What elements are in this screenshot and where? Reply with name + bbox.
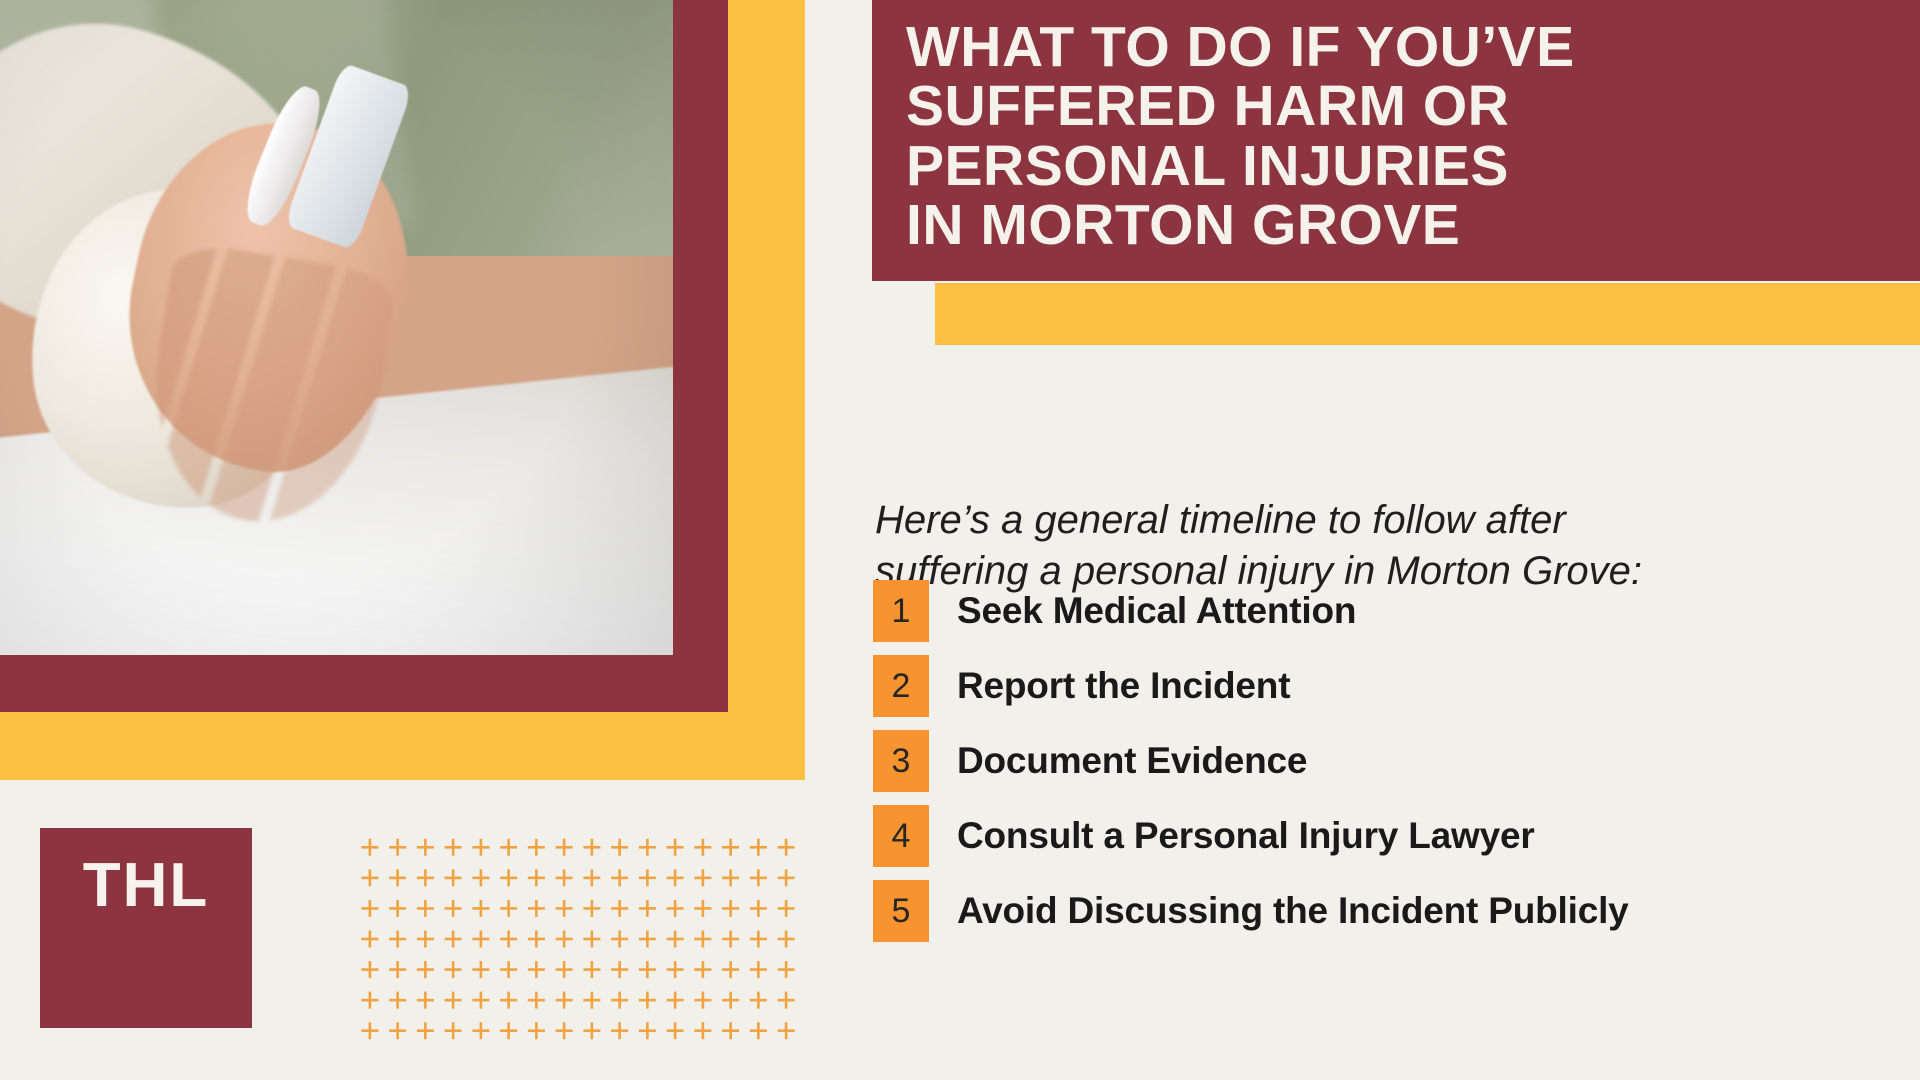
step-label: Avoid Discussing the Incident Publicly — [957, 880, 1629, 942]
infographic-canvas: WHAT TO DO IF YOU’VE SUFFERED HARM OR PE… — [0, 0, 1920, 1080]
photo-vignette — [0, 0, 673, 655]
logo-text: THL — [40, 850, 252, 921]
step-number-badge: 2 — [873, 655, 929, 717]
logo-box: THL — [40, 828, 252, 1028]
title-accent-bar — [935, 283, 1920, 345]
list-item: 1 Seek Medical Attention — [873, 580, 1903, 642]
step-label: Consult a Personal Injury Lawyer — [957, 805, 1535, 867]
list-item: 5 Avoid Discussing the Incident Publicly — [873, 880, 1903, 942]
step-label: Document Evidence — [957, 730, 1307, 792]
step-number-badge: 1 — [873, 580, 929, 642]
step-number-badge: 3 — [873, 730, 929, 792]
plus-pattern-svg — [356, 832, 800, 1046]
hero-photo — [0, 0, 673, 655]
page-title: WHAT TO DO IF YOU’VE SUFFERED HARM OR PE… — [906, 18, 1898, 255]
hero-photo-art — [0, 0, 673, 655]
step-number-badge: 4 — [873, 805, 929, 867]
title-block: WHAT TO DO IF YOU’VE SUFFERED HARM OR PE… — [872, 0, 1920, 281]
steps-list: 1 Seek Medical Attention 2 Report the In… — [873, 580, 1903, 955]
plus-pattern — [356, 832, 800, 1046]
step-number-badge: 5 — [873, 880, 929, 942]
list-item: 3 Document Evidence — [873, 730, 1903, 792]
list-item: 4 Consult a Personal Injury Lawyer — [873, 805, 1903, 867]
step-label: Seek Medical Attention — [957, 580, 1356, 642]
list-item: 2 Report the Incident — [873, 655, 1903, 717]
step-label: Report the Incident — [957, 655, 1290, 717]
